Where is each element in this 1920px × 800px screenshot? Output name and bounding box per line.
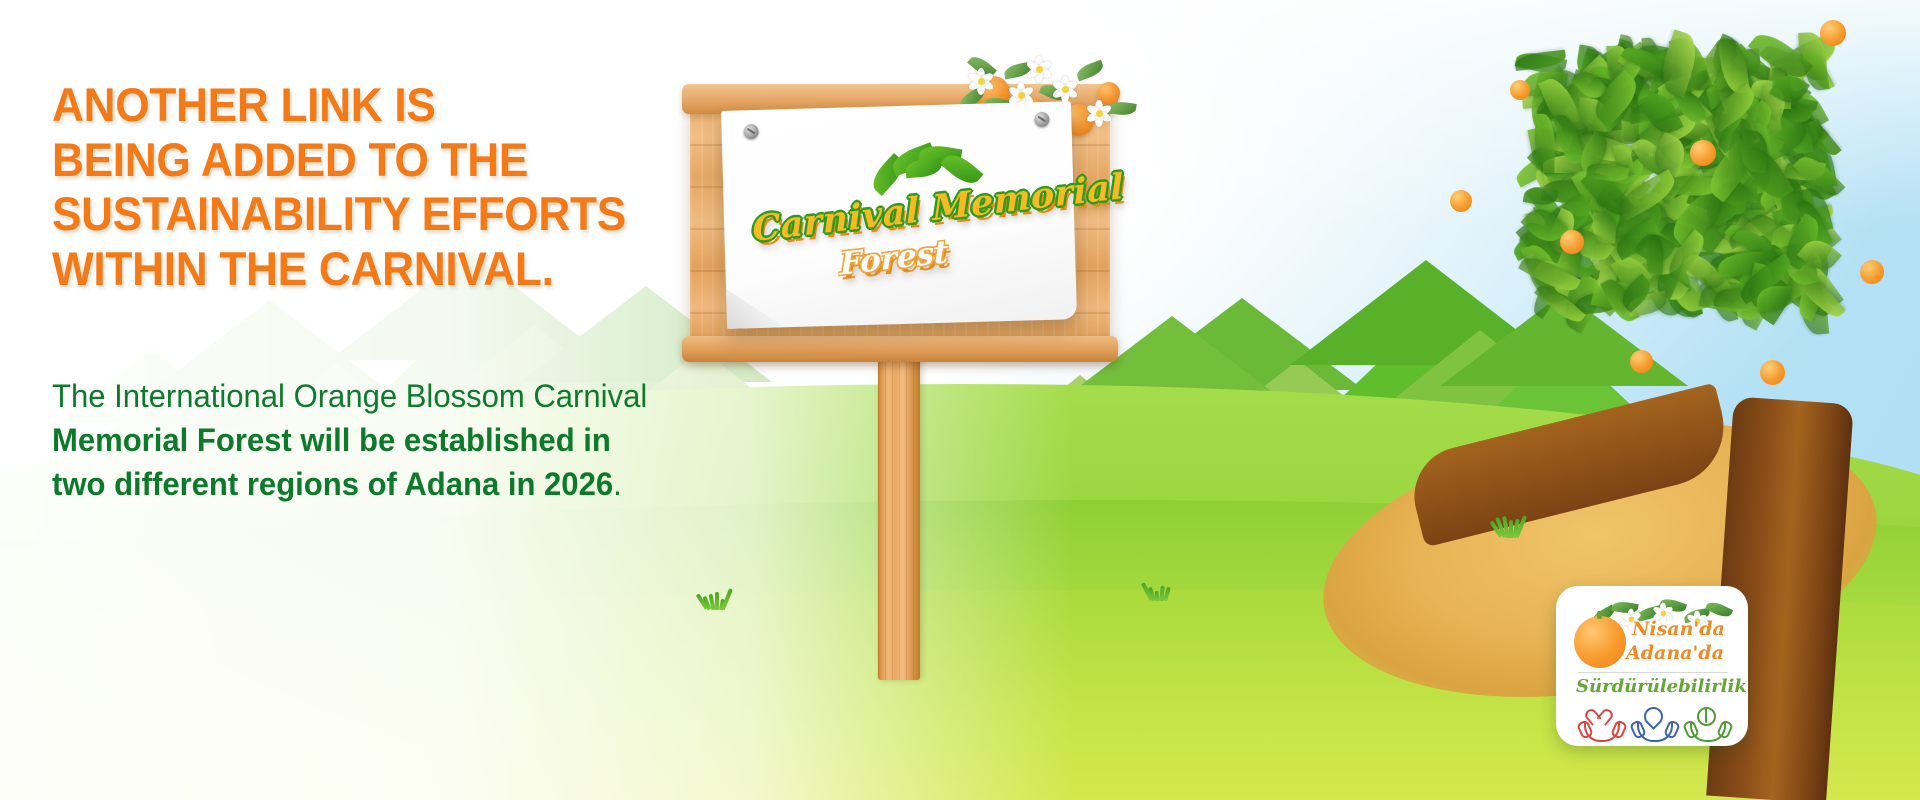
headline-line-3: SUSTAINABILITY EFFORTS	[52, 187, 626, 240]
sign-board-bottom-rail	[682, 336, 1118, 362]
banner-stage: Carnival Memorial Forest ANOTHER LINK IS…	[0, 0, 1920, 800]
orange-blossom-flower	[966, 66, 996, 96]
body-paragraph: The International Orange Blossom Carniva…	[52, 374, 673, 506]
orange-fruit	[1630, 350, 1653, 373]
body-segment-bold: Memorial Forest will be established in t…	[52, 422, 613, 502]
screw-icon	[743, 124, 758, 139]
headline-line-4: WITHIN THE CARNIVAL.	[52, 242, 554, 295]
body-segment-regular: The International Orange Blossom Carniva…	[52, 378, 647, 414]
orange-tree-canopy	[1260, 0, 1920, 490]
globe-in-hands-icon	[1686, 706, 1726, 742]
badge-divider	[1578, 672, 1728, 673]
grass-tuft	[1494, 516, 1524, 538]
water-drop-in-hands-icon	[1633, 706, 1673, 742]
headline-line-1: ANOTHER LINK IS	[52, 78, 436, 131]
orange-fruit	[1510, 80, 1530, 100]
tree-leaf	[1757, 286, 1791, 312]
sustainability-badge[interactable]: Nisan'da Adana'da Sürdürülebilirlik	[1556, 586, 1748, 746]
orange-blossom-flower	[1050, 74, 1080, 104]
heart-in-hands-icon	[1580, 706, 1620, 742]
sprig-leaf	[1705, 599, 1733, 620]
screw-icon	[1034, 112, 1049, 127]
badge-line-1: Nisan'da	[1632, 618, 1725, 640]
orange-blossom-flower	[1084, 98, 1114, 128]
orange-blossom-flower	[1024, 54, 1054, 84]
badge-line-3: Sürdürülebilirlik	[1576, 676, 1731, 697]
grass-tuft	[1145, 575, 1179, 601]
badge-line-2: Adana'da	[1626, 642, 1724, 664]
logo-sub-text: Forest	[840, 234, 949, 283]
page-headline: ANOTHER LINK ISBEING ADDED TO THESUSTAIN…	[52, 78, 654, 296]
orange-fruit	[1560, 230, 1584, 254]
copy-block: ANOTHER LINK ISBEING ADDED TO THESUSTAIN…	[52, 78, 692, 507]
orange-fruit	[1760, 360, 1785, 385]
headline-line-2: BEING ADDED TO THE	[52, 133, 528, 186]
orange-fruit	[1690, 140, 1716, 166]
wooden-sign: Carnival Memorial Forest	[690, 40, 1150, 680]
orange-fruit-icon	[1574, 616, 1626, 668]
orange-fruit	[1860, 260, 1884, 284]
sign-paper: Carnival Memorial Forest	[721, 101, 1077, 329]
orange-fruit	[1450, 190, 1472, 212]
body-segment-period: .	[613, 466, 622, 502]
badge-icon-row	[1580, 706, 1726, 742]
carnival-memorial-forest-logo: Carnival Memorial Forest	[749, 155, 1051, 308]
orange-fruit	[1820, 20, 1846, 46]
